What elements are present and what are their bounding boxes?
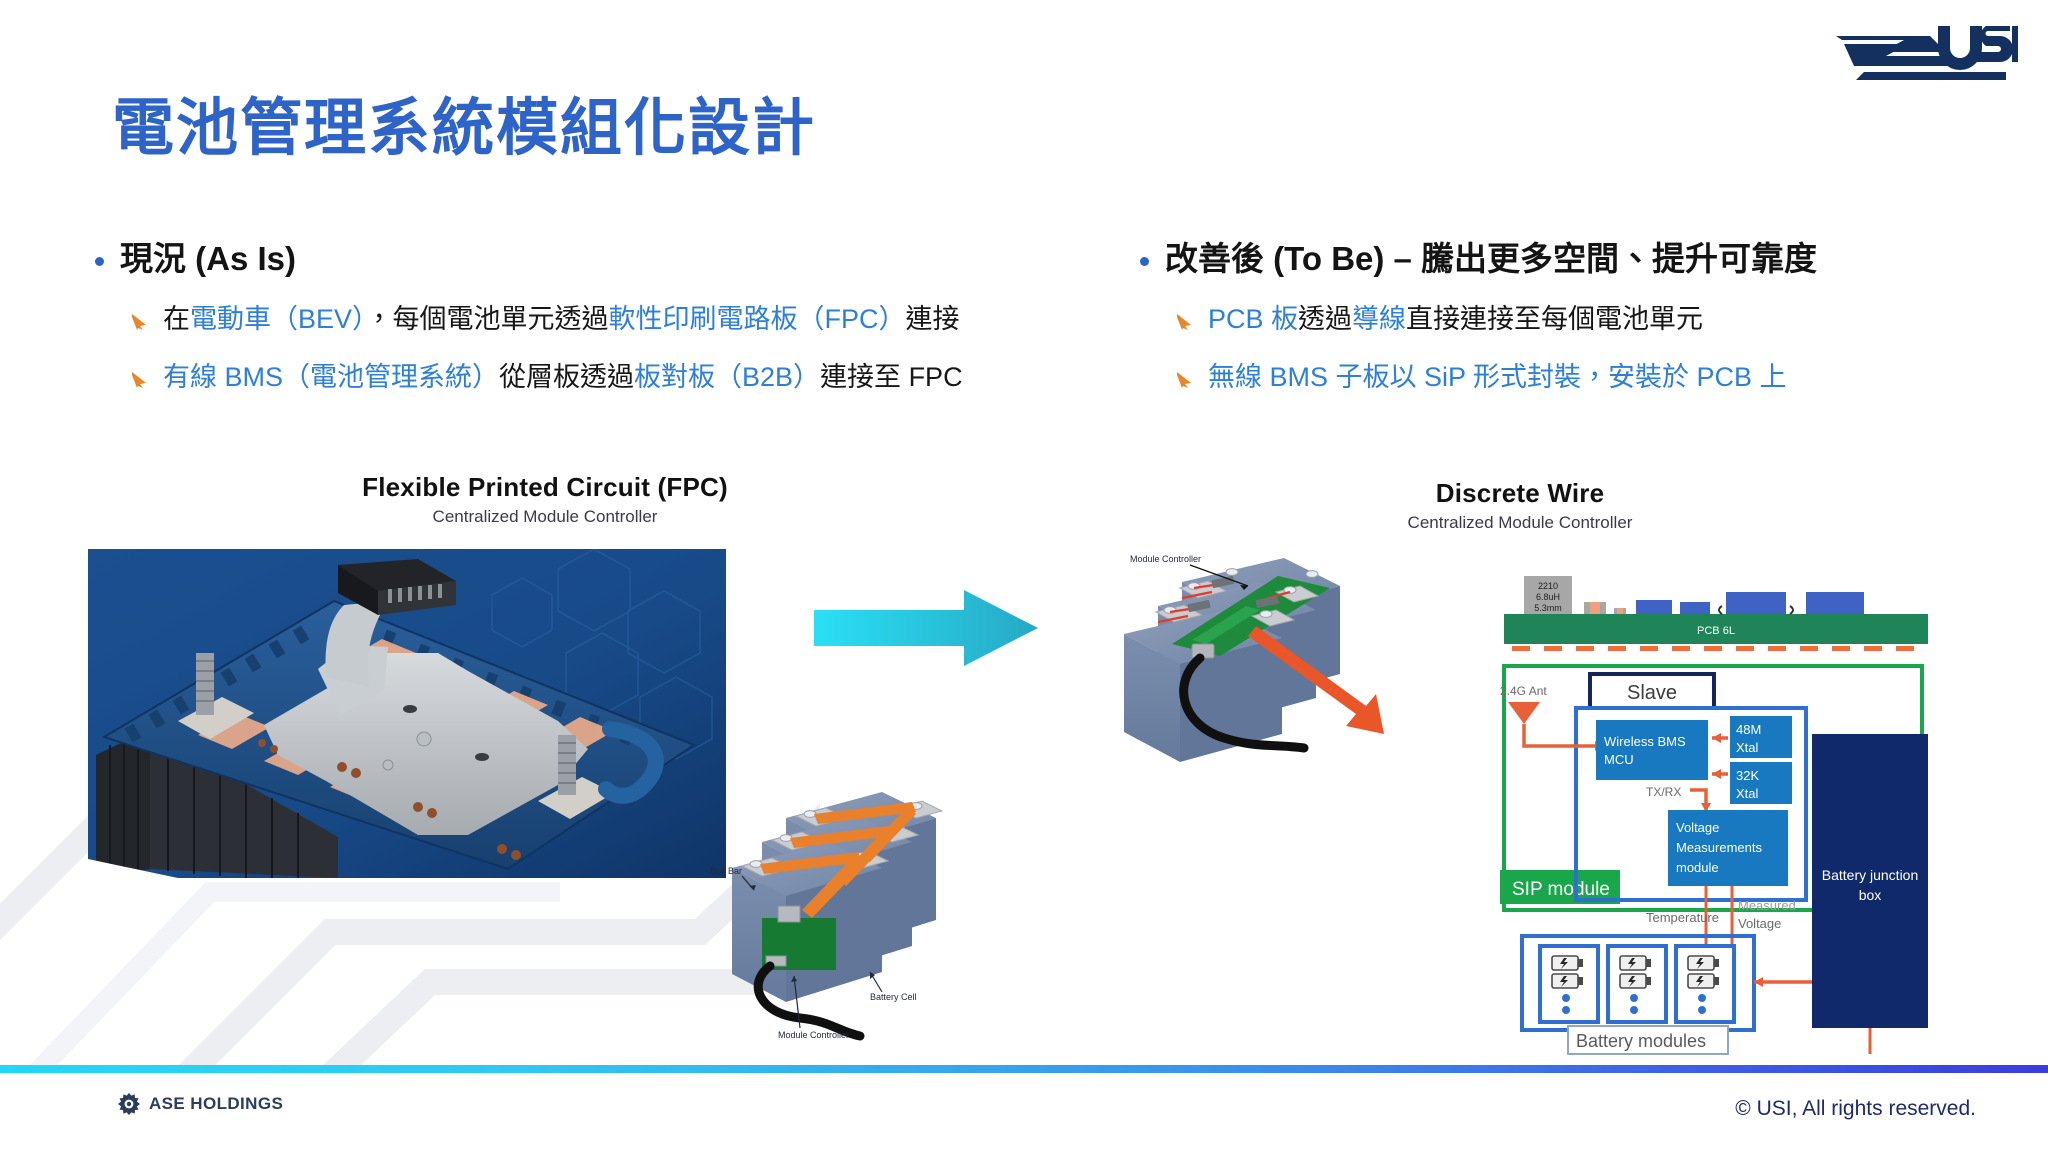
left-figure-caption: Flexible Printed Circuit (FPC) Centraliz… xyxy=(320,472,770,527)
ase-holdings-text: ASE HOLDINGS xyxy=(149,1094,283,1114)
right-column: 改善後 (To Be) – 騰出更多空間、提升可靠度 PCB 板透過導線直接連接… xyxy=(1140,238,2020,395)
left-caption-main: Flexible Printed Circuit (FPC) xyxy=(320,472,770,503)
left-column: 現況 (As Is) 在電動車（BEV），每個電池單元透過軟性印刷電路板（FPC… xyxy=(95,238,1105,395)
block-voltage-line-3: module xyxy=(1676,860,1719,875)
label-module-controller-right: Module Controller xyxy=(1130,554,1201,564)
copyright-text: © USI, All rights reserved. xyxy=(1735,1097,1976,1121)
left-subbullet-1-text: 在電動車（BEV），每個電池單元透過軟性印刷電路板（FPC）連接 xyxy=(163,302,960,337)
signal-txrx-label: TX/RX xyxy=(1646,785,1681,799)
block-xtal-48m-line-2: Xtal xyxy=(1736,740,1759,755)
block-xtal-32k-line-2: Xtal xyxy=(1736,786,1759,801)
bullet-dot-icon xyxy=(95,257,104,266)
pcb-comp-line-3: 5.3mm xyxy=(1534,603,1562,613)
left-heading-row: 現況 (As Is) xyxy=(95,238,1105,279)
battery-junction-box-line-2: box xyxy=(1859,887,1882,903)
fpc-module-illustration: Bus Bar Module Controller Battery Cell xyxy=(690,770,980,1050)
pcb-board-label: PCB 6L xyxy=(1697,625,1735,637)
block-xtal-32k-line-1: 32K xyxy=(1736,768,1759,783)
sub-bullet-arrow-icon xyxy=(1176,371,1194,394)
right-caption-main: Discrete Wire xyxy=(1340,478,1700,509)
ase-gear-icon xyxy=(118,1093,140,1115)
battery-module-3 xyxy=(1676,946,1734,1022)
block-xtal-48m-line-1: 48M xyxy=(1736,722,1761,737)
pcb-comp-line-2: 6.8uH xyxy=(1536,592,1560,602)
footer: ASE HOLDINGS © USI, All rights reserved. xyxy=(0,1073,2048,1152)
block-wireless-bms-mcu-line-1: Wireless BMS xyxy=(1604,734,1686,749)
right-figure-caption: Discrete Wire Centralized Module Control… xyxy=(1340,478,1700,533)
signal-voltage-label: Voltage xyxy=(1738,916,1781,931)
slave-label: Slave xyxy=(1627,682,1677,704)
block-wireless-bms-mcu xyxy=(1596,720,1708,780)
transition-arrow-icon xyxy=(812,588,1040,668)
left-subbullet-2-text: 有線 BMS（電池管理系統）從層板透過板對板（B2B）連接至 FPC xyxy=(163,360,963,395)
left-caption-sub: Centralized Module Controller xyxy=(320,507,770,527)
battery-junction-box-line-1: Battery junction xyxy=(1822,867,1919,883)
right-subbullet-2: 無線 BMS 子板以 SiP 形式封裝，安裝於 PCB 上 xyxy=(1140,360,2020,395)
ase-holdings-logo: ASE HOLDINGS xyxy=(118,1093,283,1115)
label-bus-bar: Bus Bar xyxy=(710,866,742,876)
discrete-wire-module-illustration: Module Controller xyxy=(1108,548,1398,808)
usi-logo xyxy=(1834,22,2019,84)
block-wireless-bms-mcu-line-2: MCU xyxy=(1604,752,1634,767)
sip-module-label: SIP module xyxy=(1512,879,1610,900)
slide-root: 電池管理系統模組化設計 現況 (As Is) 在電動車（BEV），每個電池單元透… xyxy=(0,0,2048,1152)
right-heading-row: 改善後 (To Be) – 騰出更多空間、提升可靠度 xyxy=(1140,238,2020,279)
battery-module-2 xyxy=(1608,946,1666,1022)
wireless-bms-block-diagram: PCB 6L 2210 6.8uH 5.3mm xyxy=(1500,570,2020,1060)
antenna-icon xyxy=(1508,702,1540,724)
right-heading: 改善後 (To Be) – 騰出更多空間、提升可靠度 xyxy=(1165,238,1817,279)
signal-temperature-label: Temperature xyxy=(1646,910,1719,925)
right-subbullet-1-text: PCB 板透過導線直接連接至每個電池單元 xyxy=(1208,302,1703,337)
footer-gradient-bar xyxy=(0,1065,2048,1073)
block-voltage-line-2: Measurements xyxy=(1676,840,1762,855)
signal-measured-label: Measured xyxy=(1738,898,1796,913)
left-subbullet-2: 有線 BMS（電池管理系統）從層板透過板對板（B2B）連接至 FPC xyxy=(95,360,1105,395)
label-module-controller: Module Controller xyxy=(778,1030,849,1040)
sub-bullet-arrow-icon xyxy=(131,313,149,336)
right-subbullet-2-text: 無線 BMS 子板以 SiP 形式封裝，安裝於 PCB 上 xyxy=(1208,360,1787,395)
left-subbullet-1: 在電動車（BEV），每個電池單元透過軟性印刷電路板（FPC）連接 xyxy=(95,302,1105,337)
right-caption-sub: Centralized Module Controller xyxy=(1340,513,1700,533)
page-title: 電池管理系統模組化設計 xyxy=(112,96,816,163)
right-subbullet-1: PCB 板透過導線直接連接至每個電池單元 xyxy=(1140,302,2020,337)
pcb-cross-section: PCB 6L 2210 6.8uH 5.3mm xyxy=(1504,576,1928,651)
sub-bullet-arrow-icon xyxy=(131,371,149,394)
fpc-battery-photo xyxy=(88,549,726,878)
battery-modules-label: Battery modules xyxy=(1576,1031,1706,1051)
sub-bullet-arrow-icon xyxy=(1176,313,1194,336)
label-battery-cell: Battery Cell xyxy=(870,992,917,1002)
bullet-dot-icon xyxy=(1140,257,1149,266)
battery-module-1 xyxy=(1540,946,1598,1022)
antenna-label: 2.4G Ant xyxy=(1500,684,1547,698)
block-voltage-line-1: Voltage xyxy=(1676,820,1719,835)
left-heading: 現況 (As Is) xyxy=(120,238,296,279)
pcb-comp-line-1: 2210 xyxy=(1538,581,1558,591)
